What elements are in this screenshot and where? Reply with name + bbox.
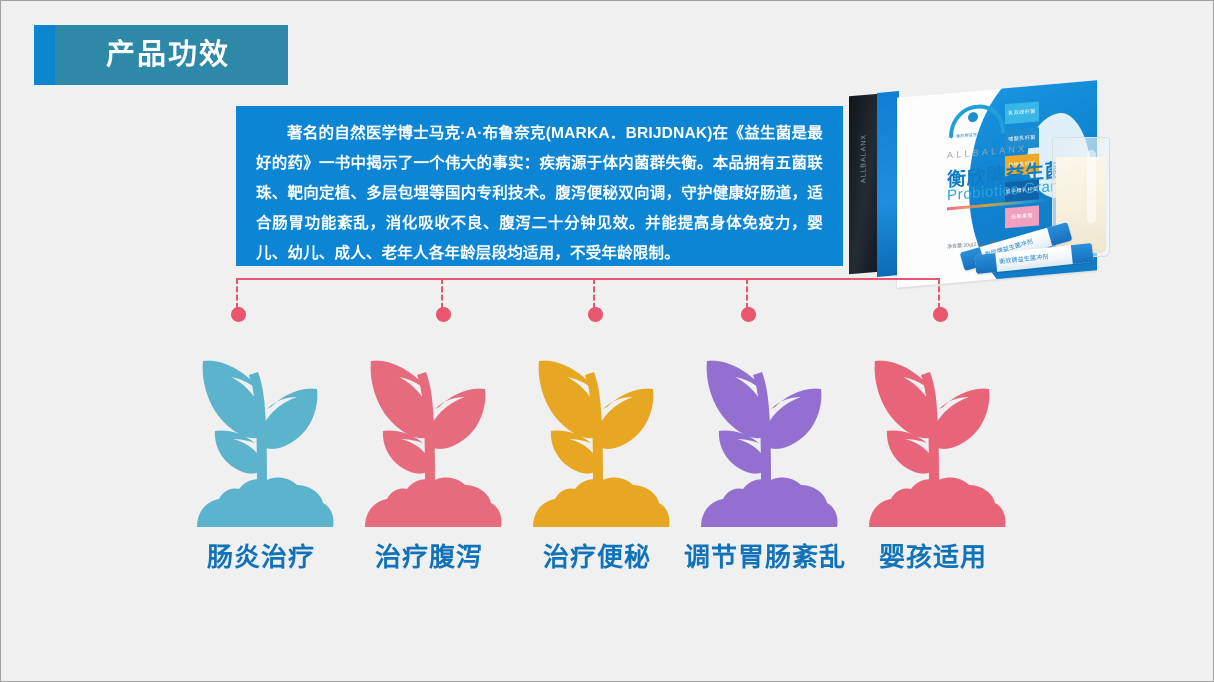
connector-dot-3: [588, 307, 603, 322]
glass-highlight: [1087, 150, 1096, 224]
connector-dot-2: [436, 307, 451, 322]
sprout-graphic: [181, 331, 341, 531]
connector-rail: [236, 278, 939, 280]
benefit-item-5[interactable]: 婴孩适用: [843, 331, 1023, 574]
sprout-graphic: [349, 331, 509, 531]
title-accent-bar: [34, 25, 55, 85]
connector-dot-1: [231, 307, 246, 322]
benefit-label-2: 治疗腹泻: [339, 537, 519, 574]
benefit-label-1: 肠炎治疗: [171, 537, 351, 574]
connector-drop-5: [938, 278, 940, 309]
page-title-banner: 产品功效: [34, 25, 288, 85]
sprout-graphic: [517, 331, 677, 531]
carton-side-panel: ALLBALANX: [849, 94, 879, 275]
benefit-label-5: 婴孩适用: [843, 537, 1023, 574]
benefit-item-2[interactable]: 治疗腹泻: [339, 331, 519, 574]
carton-chip-5: 低聚果糖: [1005, 205, 1039, 228]
brand-logo-icon: 衡欣牌益生菌冲剂: [949, 103, 997, 141]
description-text: 著名的自然医学博士马克·A·布鲁奈克(MARKA．BRIJDNAK)在《益生菌是…: [256, 119, 823, 269]
sachet-label-2: 衡欣牌益生菌冲剂: [999, 249, 1070, 265]
benefit-label-3: 治疗便秘: [507, 537, 687, 574]
slide-canvas: 产品功效 ALLBALANX 乳双歧杆菌 嗜酸乳杆菌 植物乳杆菌 鼠李糖乳杆菌 …: [0, 0, 1214, 682]
benefit-item-4[interactable]: 调节胃肠紊乱: [675, 331, 855, 574]
connector-dot-5: [933, 307, 948, 322]
product-package-image: ALLBALANX 乳双歧杆菌 嗜酸乳杆菌 植物乳杆菌 鼠李糖乳杆菌 低聚果糖 …: [847, 89, 1147, 289]
connector-dot-4: [741, 307, 756, 322]
sachet-cap-right: [1071, 243, 1094, 264]
sprout-graphic: [685, 331, 845, 531]
sprout-graphic: [853, 331, 1013, 531]
carton-blue-strip: [877, 91, 899, 277]
benefit-label-4: 调节胃肠紊乱: [675, 537, 855, 574]
benefit-item-3[interactable]: 治疗便秘: [507, 331, 687, 574]
sachet-cap-left: [974, 253, 997, 274]
carton-chip-1: 乳双歧杆菌: [1005, 101, 1039, 124]
connector-drop-3: [593, 278, 595, 309]
carton-side-text: ALLBALANX: [861, 130, 868, 187]
connector-drop-4: [746, 278, 748, 309]
connector-drop-1: [236, 278, 238, 309]
page-title: 产品功效: [106, 41, 230, 70]
benefits-row: 肠炎治疗治疗腹泻治疗便秘调节胃肠紊乱婴孩适用: [171, 331, 1071, 581]
description-callout: 著名的自然医学博士马克·A·布鲁奈克(MARKA．BRIJDNAK)在《益生菌是…: [236, 106, 843, 266]
benefit-item-1[interactable]: 肠炎治疗: [171, 331, 351, 574]
connector-drop-2: [441, 278, 443, 309]
